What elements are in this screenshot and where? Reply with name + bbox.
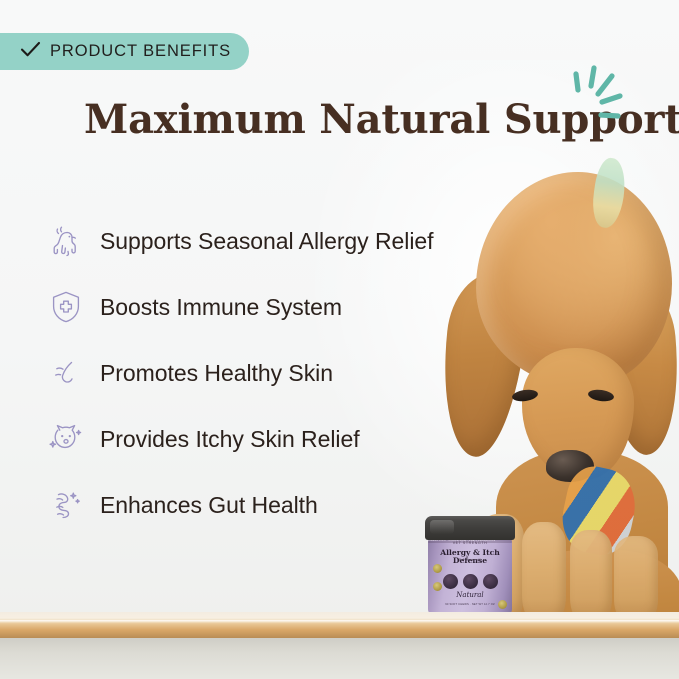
label-badge [443, 574, 458, 589]
dog-paw [570, 530, 612, 622]
jar-label-body: VET STRENGTH Allergy & Itch Defense Soft… [428, 538, 512, 616]
benefit-label: Supports Seasonal Allergy Relief [100, 228, 434, 255]
label-seal-icon [433, 564, 442, 573]
benefit-item-itchy-skin-relief: Provides Itchy Skin Relief [46, 406, 476, 472]
benefit-item-allergy-relief: Supports Seasonal Allergy Relief [46, 208, 476, 274]
label-seal-icon [498, 600, 507, 609]
page-title: Maximum Natural Support [84, 96, 624, 143]
benefit-label: Boosts Immune System [100, 294, 342, 321]
benefit-label: Enhances Gut Health [100, 492, 318, 519]
benefit-label: Promotes Healthy Skin [100, 360, 333, 387]
label-badge [483, 574, 498, 589]
label-seal-icon [433, 582, 442, 591]
benefits-list: Supports Seasonal Allergy Relief Boosts … [46, 208, 476, 538]
benefit-item-healthy-skin: Promotes Healthy Skin [46, 340, 476, 406]
dog-paw [614, 536, 658, 622]
badge-label: PRODUCT BENEFITS [50, 42, 231, 61]
product-benefits-infographic: VET STRENGTH Allergy & Itch Defense Soft… [0, 0, 679, 679]
dog-paw [522, 522, 566, 622]
shelf-underside [0, 638, 679, 679]
intestine-icon [46, 485, 86, 525]
dog-scratching-icon [46, 221, 86, 261]
wooden-shelf [0, 620, 679, 638]
hair-follicle-icon [46, 353, 86, 393]
label-subtitle: Soft Chews with [428, 559, 512, 562]
label-badge [463, 574, 478, 589]
benefit-item-gut-health: Enhances Gut Health [46, 472, 476, 538]
product-benefits-badge: PRODUCT BENEFITS [0, 33, 249, 70]
sparkle-burst-icon [560, 62, 640, 137]
label-script-word: Natural [428, 592, 512, 599]
benefit-label: Provides Itchy Skin Relief [100, 426, 360, 453]
check-icon [20, 41, 41, 63]
label-title: Allergy & Itch Defense [428, 549, 512, 565]
medical-shield-icon [46, 287, 86, 327]
benefit-item-immune-system: Boosts Immune System [46, 274, 476, 340]
label-eyebrow: VET STRENGTH [428, 542, 512, 546]
dog-face-sparkle-icon [46, 419, 86, 459]
